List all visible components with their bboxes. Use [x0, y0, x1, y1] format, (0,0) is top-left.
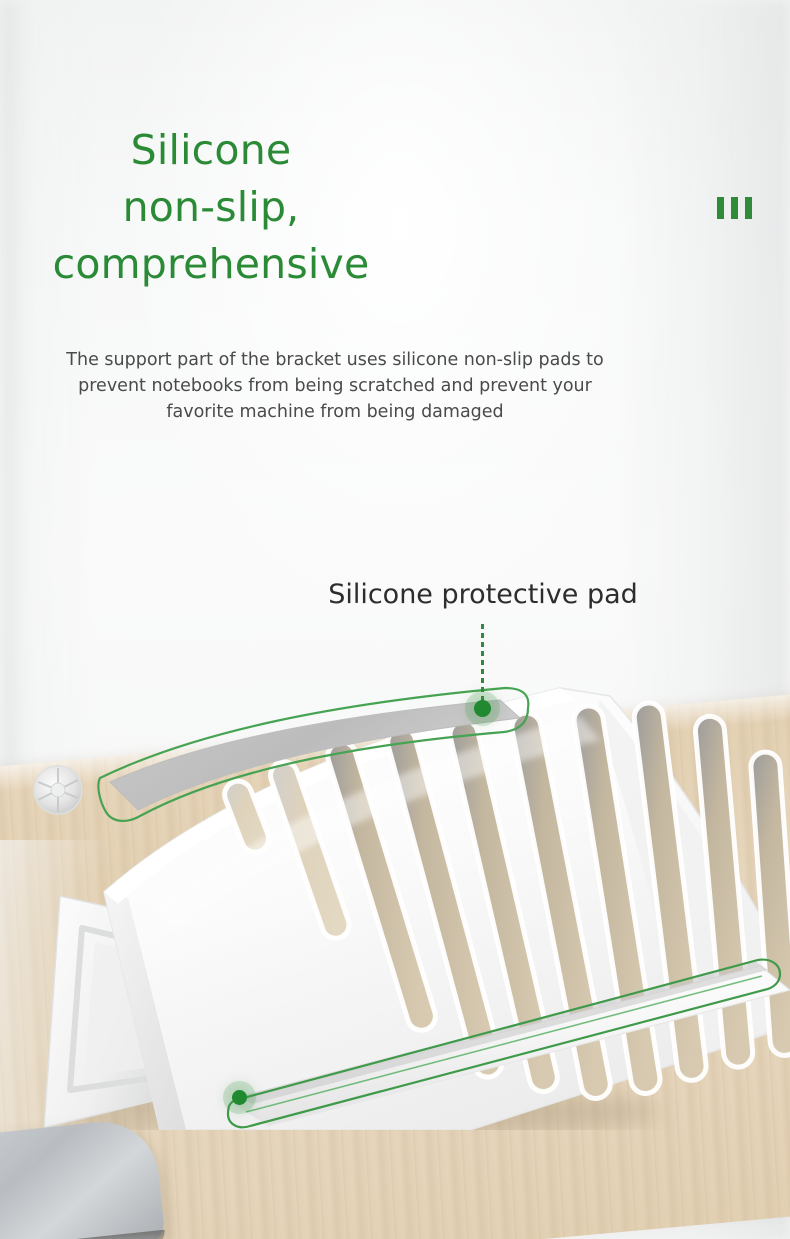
laptop-stand-photo [0, 660, 790, 1130]
callout-label: Silicone protective pad [283, 578, 683, 612]
decor-bar-2 [731, 197, 738, 219]
headline-line-1: Silicone [30, 122, 392, 179]
headline-line-2: non-slip, [30, 179, 392, 236]
subcopy-paragraph: The support part of the bracket uses sil… [55, 347, 615, 425]
three-vertical-bars-icon [717, 197, 752, 219]
callout-dot-icon-top [474, 700, 491, 717]
headline: Silicone non-slip, comprehensive [30, 122, 392, 293]
kickstand-hinge-knob [34, 766, 82, 814]
decor-bar-1 [717, 197, 724, 219]
product-marketing-page: Silicone non-slip, comprehensive The sup… [0, 0, 790, 1239]
headline-line-3: comprehensive [30, 236, 392, 293]
dashed-leader-line-icon [481, 624, 484, 708]
decor-bar-3 [745, 197, 752, 219]
callout-dot-icon-bottom [232, 1090, 247, 1105]
